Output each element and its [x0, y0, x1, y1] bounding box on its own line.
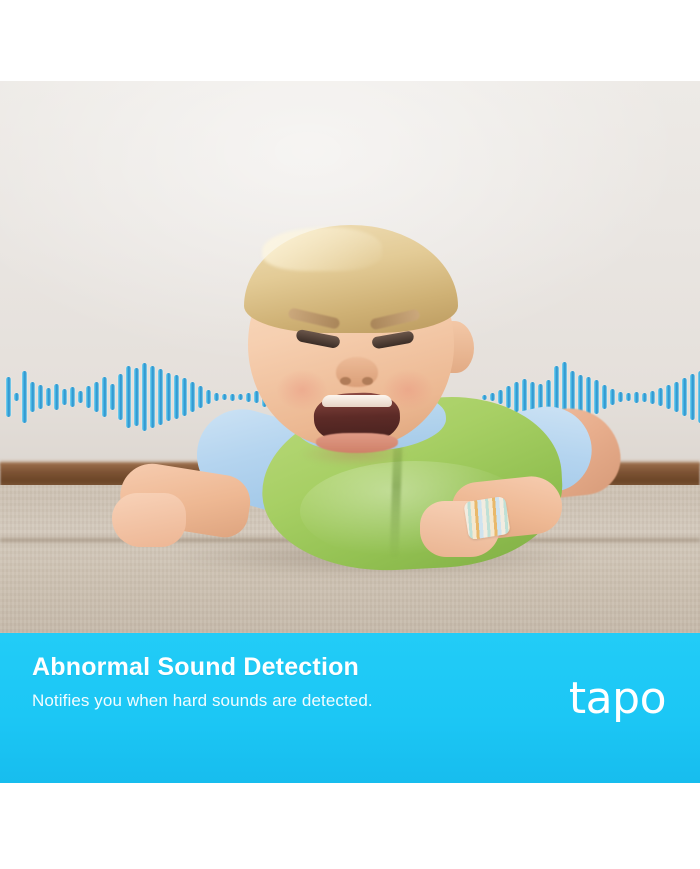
- baby-nostril-left: [340, 377, 351, 385]
- feature-subtitle: Notifies you when hard sounds are detect…: [32, 691, 373, 711]
- product-promo-card: Abnormal Sound Detection Notifies you wh…: [0, 0, 700, 869]
- baby-hair-highlight: [262, 227, 382, 271]
- bottom-white-margin: [0, 783, 700, 869]
- feature-banner: Abnormal Sound Detection Notifies you wh…: [0, 633, 700, 783]
- baby-wristband: [463, 496, 510, 540]
- baby-subject: [0, 81, 700, 633]
- tapo-brand-logo: tapo: [569, 677, 666, 721]
- hero-photo: [0, 81, 700, 633]
- baby-teeth: [322, 395, 392, 407]
- baby-nostril-right: [362, 377, 373, 385]
- feature-title: Abnormal Sound Detection: [32, 653, 359, 682]
- top-white-margin: [0, 0, 700, 81]
- baby-lower-lip: [316, 433, 398, 453]
- baby-hand-left: [112, 493, 186, 547]
